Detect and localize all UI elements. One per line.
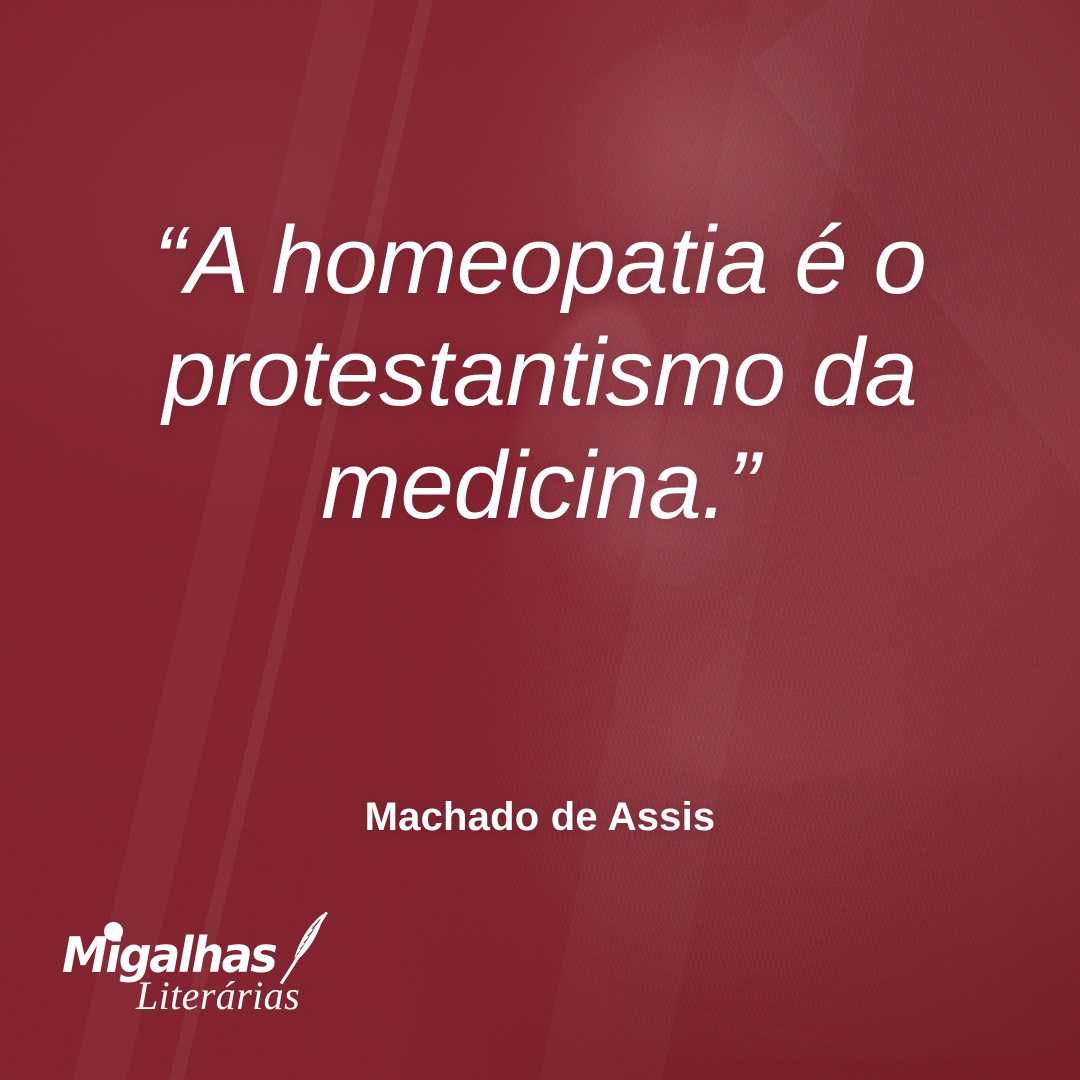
author-name: Machado de Assis [96, 795, 984, 840]
quote-text: “A homeopatia é o protestantismo da medi… [96, 205, 984, 542]
i-dot-circle-icon [104, 922, 123, 941]
brand-logo[interactable]: Migalhas [62, 928, 324, 1024]
card-content: “A homeopatia é o protestantismo da medi… [0, 0, 1080, 1080]
quote-card: “A homeopatia é o protestantismo da medi… [0, 0, 1080, 1080]
logo-subtitle: Literárias [136, 974, 300, 1018]
